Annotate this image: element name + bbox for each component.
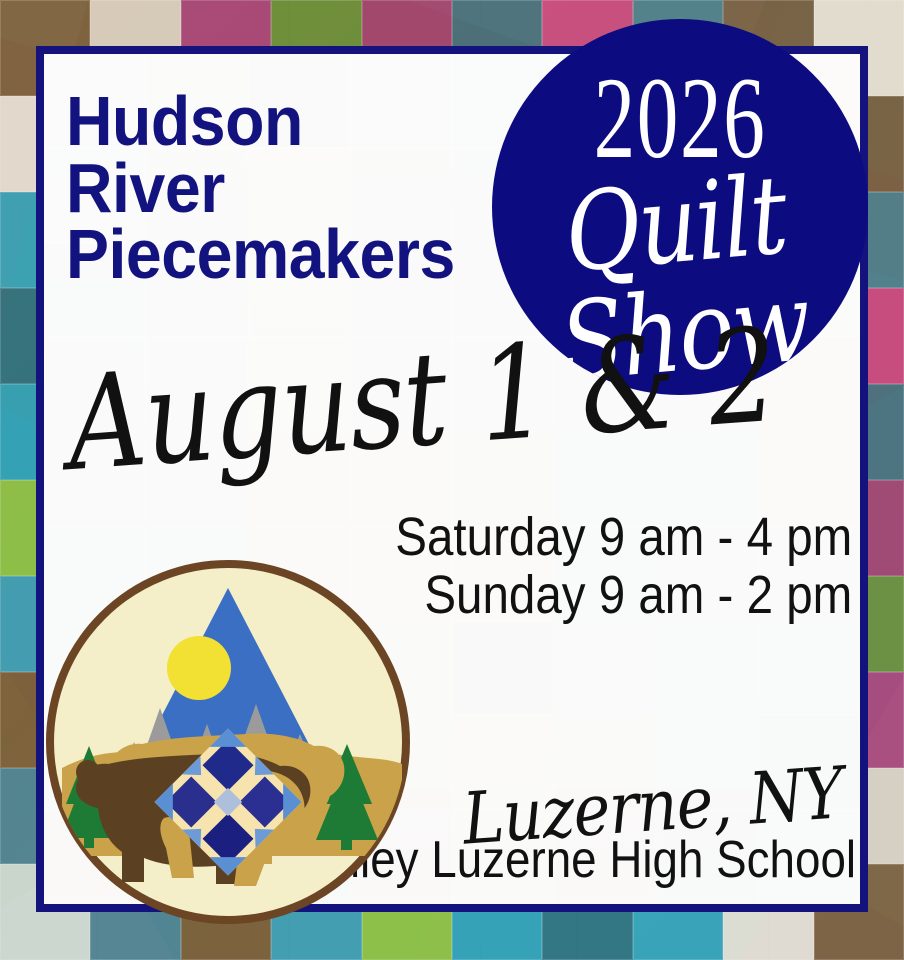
bear-ear [76, 760, 100, 784]
hours-sunday: Sunday 9 am - 2 pm [395, 566, 852, 624]
title-line-2: Piecemakers [66, 221, 462, 288]
page-title: Hudson River Piecemakers [66, 88, 462, 288]
event-hours: Saturday 9 am - 4 pm Sunday 9 am - 2 pm [395, 508, 852, 625]
guild-logo [42, 556, 414, 928]
yellow-sun [167, 636, 231, 700]
quilt-show-poster: Hudson River Piecemakers 2026 Quilt Show… [0, 0, 904, 960]
bear-mountain-logo-icon [42, 556, 414, 928]
title-line-1: Hudson River [66, 82, 303, 227]
hours-saturday: Saturday 9 am - 4 pm [395, 508, 852, 566]
